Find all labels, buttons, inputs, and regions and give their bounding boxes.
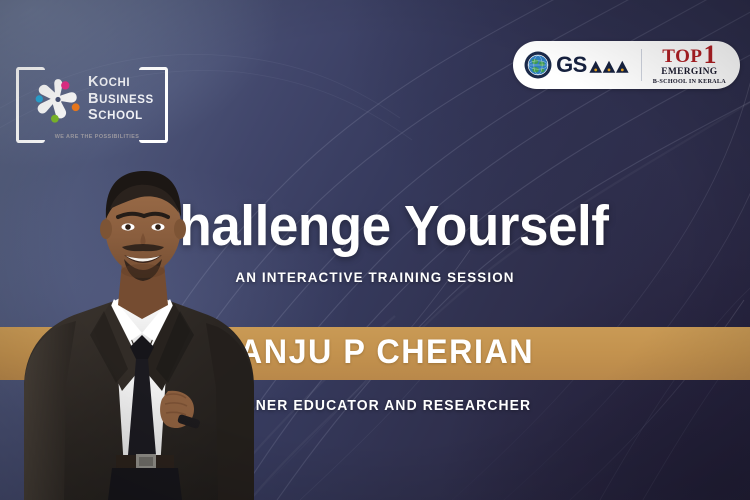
- training-session-poster: KOCHI BUSINESS SCHOOL WE ARE THE POSSIBI…: [0, 0, 750, 500]
- poster-vignette: [0, 0, 750, 500]
